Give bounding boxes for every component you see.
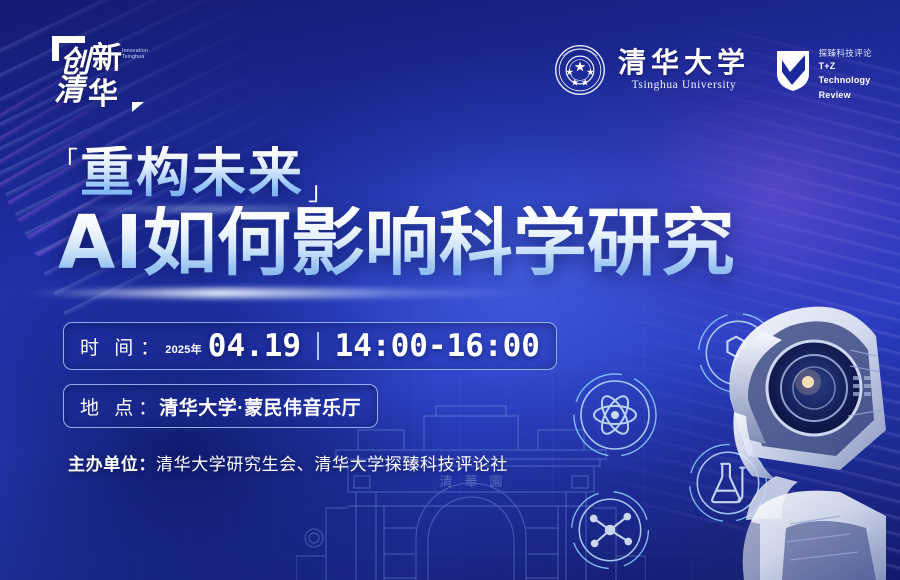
event-poster: 清 華 園 [0,0,900,580]
gate-char-3: 園 [489,475,502,490]
event-venue: 清华大学·蒙民伟音乐厅 [159,393,361,420]
logo-char-4: 华 [88,80,118,110]
flask-icon [680,435,776,531]
place-label: 地 点 [80,393,138,420]
hero-kicker: 「 重构未来 」 [52,146,334,200]
event-date: 04.19 [208,331,301,362]
event-place-box: 地 点 ： 清华大学·蒙民伟音乐厅 [63,384,378,428]
robot-head-illustration [690,280,900,580]
kicker-text: 重构未来 [80,146,304,200]
gate-char-1: 清 [439,475,452,490]
tz-line-1: T+Z [819,60,872,72]
hexagon-molecule-icon [690,305,786,401]
event-time-box: 时 间 ： 2025年 04.19 14:00-16:00 [63,322,557,370]
logo-triangle-mark [132,102,144,112]
headline-glow-lower [20,288,540,298]
logo-english-text: Innovation Tsinghua [122,48,163,61]
logo-char-3: 清 [54,76,84,106]
molecule-node-icon [562,482,658,578]
tsinghua-name-cn: 清华大学 [618,49,750,77]
page-title: AI如何影响科学研究 [58,206,735,280]
place-colon: ： [138,393,157,420]
organizer-line: 主办单位：清华大学研究生会、清华大学探臻科技评论社 [68,450,508,475]
innovation-tsinghua-logo: 创 新 清 华 Innovation Tsinghua [48,28,163,116]
bracket-open: 「 [52,148,78,174]
atom-icon [565,365,665,465]
event-time-range: 14:00-16:00 [335,331,540,362]
tsinghua-seal-icon [554,44,606,96]
time-colon: ： [140,333,159,360]
logo-char-2: 新 [92,44,122,74]
time-label: 时 间 [80,333,138,360]
gate-char-2: 華 [464,475,477,490]
event-year: 2025年 [165,341,201,357]
organizer-label: 主办单位： [68,455,156,474]
tz-line-3: Review [819,89,872,101]
shield-check-icon [775,48,811,92]
tsinghua-name-en: Tsinghua University [632,79,737,91]
tz-name-cn: 探臻科技评论 [819,49,872,58]
tz-line-2: Technology [819,74,872,86]
tsinghua-university-logo: 清华大学 Tsinghua University [554,44,750,96]
tz-technology-review-logo: 探臻科技评论 T+Z Technology Review [775,48,872,101]
organizer-value: 清华大学研究生会、清华大学探臻科技评论社 [156,455,508,474]
time-separator [317,332,319,360]
